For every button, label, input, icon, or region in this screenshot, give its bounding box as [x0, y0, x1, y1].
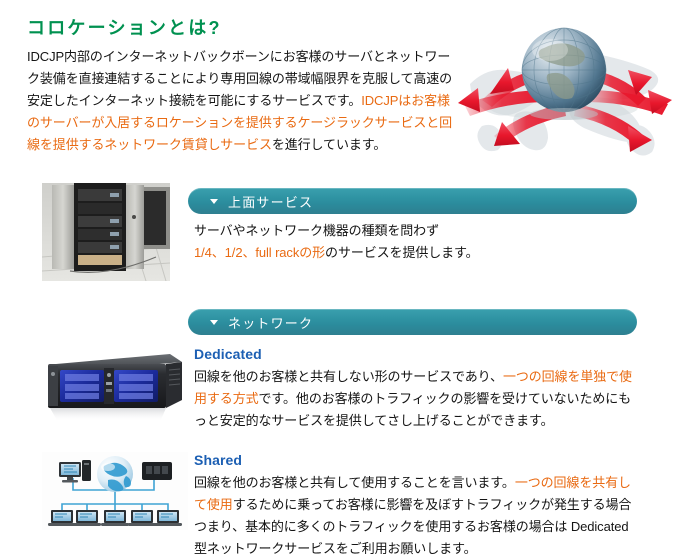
dedicated-text: 回線を他のお客様と共有しない形のサービスであり、一つの回線を単独で使用する方式で… — [194, 366, 634, 432]
globe-node — [97, 456, 133, 492]
shared-block: Shared 回線を他のお客様と共有して使用することを言います。一つの回線を共有… — [194, 450, 639, 560]
intro-section: コロケーションとは? IDCJP内部のインターネットバックボーンにお客様のサーバ… — [0, 0, 680, 178]
chevron-down-icon — [210, 320, 218, 325]
intro-paragraph: IDCJP内部のインターネットバックボーンにお客様のサーバとネットワーク装備を直… — [27, 46, 459, 156]
page-title: コロケーションとは? — [27, 14, 222, 40]
shared-title: Shared — [194, 450, 639, 470]
dedicated-title: Dedicated — [194, 344, 634, 364]
top-service-line-2-highlight: 1/4、1/2、full rackの形 — [194, 245, 325, 260]
server-rack-photo — [42, 183, 170, 281]
rackmount-server-photo — [42, 348, 188, 430]
server-node — [142, 462, 172, 480]
globe-illustration — [452, 8, 680, 174]
shared-text: 回線を他のお客様と共有して使用することを言います。一つの回線を共有して使用するた… — [194, 472, 639, 560]
top-service-line-2-rest: のサービスを提供します。 — [325, 245, 479, 260]
network-topology-photo — [42, 452, 188, 530]
shared-text-part2: するために乗ってお客様に影響を及ぼすトラフィックが発生する場合つまり、基本的に多… — [194, 497, 631, 556]
chevron-down-icon — [210, 199, 218, 204]
dedicated-text-part2: です。他のお客様のトラフィックの影響を受けていないためにもっと安定的なサービスを… — [194, 391, 631, 428]
dedicated-block: Dedicated 回線を他のお客様と共有しない形のサービスであり、一つの回線を… — [194, 344, 634, 432]
laptop-node-row — [48, 510, 182, 526]
section-header-label: ネットワーク — [228, 313, 313, 332]
section-header-network[interactable]: ネットワーク — [188, 309, 637, 335]
intro-text-part2: を進行しています。 — [272, 137, 386, 152]
section-header-label: 上面サービス — [228, 192, 313, 211]
top-service-line-1: サーバやネットワーク機器の種類を問わず — [194, 220, 624, 242]
shared-text-part1: 回線を他のお客様と共有して使用することを言います。 — [194, 475, 515, 490]
top-service-line-2: 1/4、1/2、full rackの形のサービスを提供します。 — [194, 242, 624, 264]
dedicated-text-part1: 回線を他のお客様と共有しない形のサービスであり、 — [194, 369, 503, 384]
top-service-body: サーバやネットワーク機器の種類を問わず 1/4、1/2、full rackの形の… — [194, 220, 624, 264]
section-header-top-service[interactable]: 上面サービス — [188, 188, 637, 214]
